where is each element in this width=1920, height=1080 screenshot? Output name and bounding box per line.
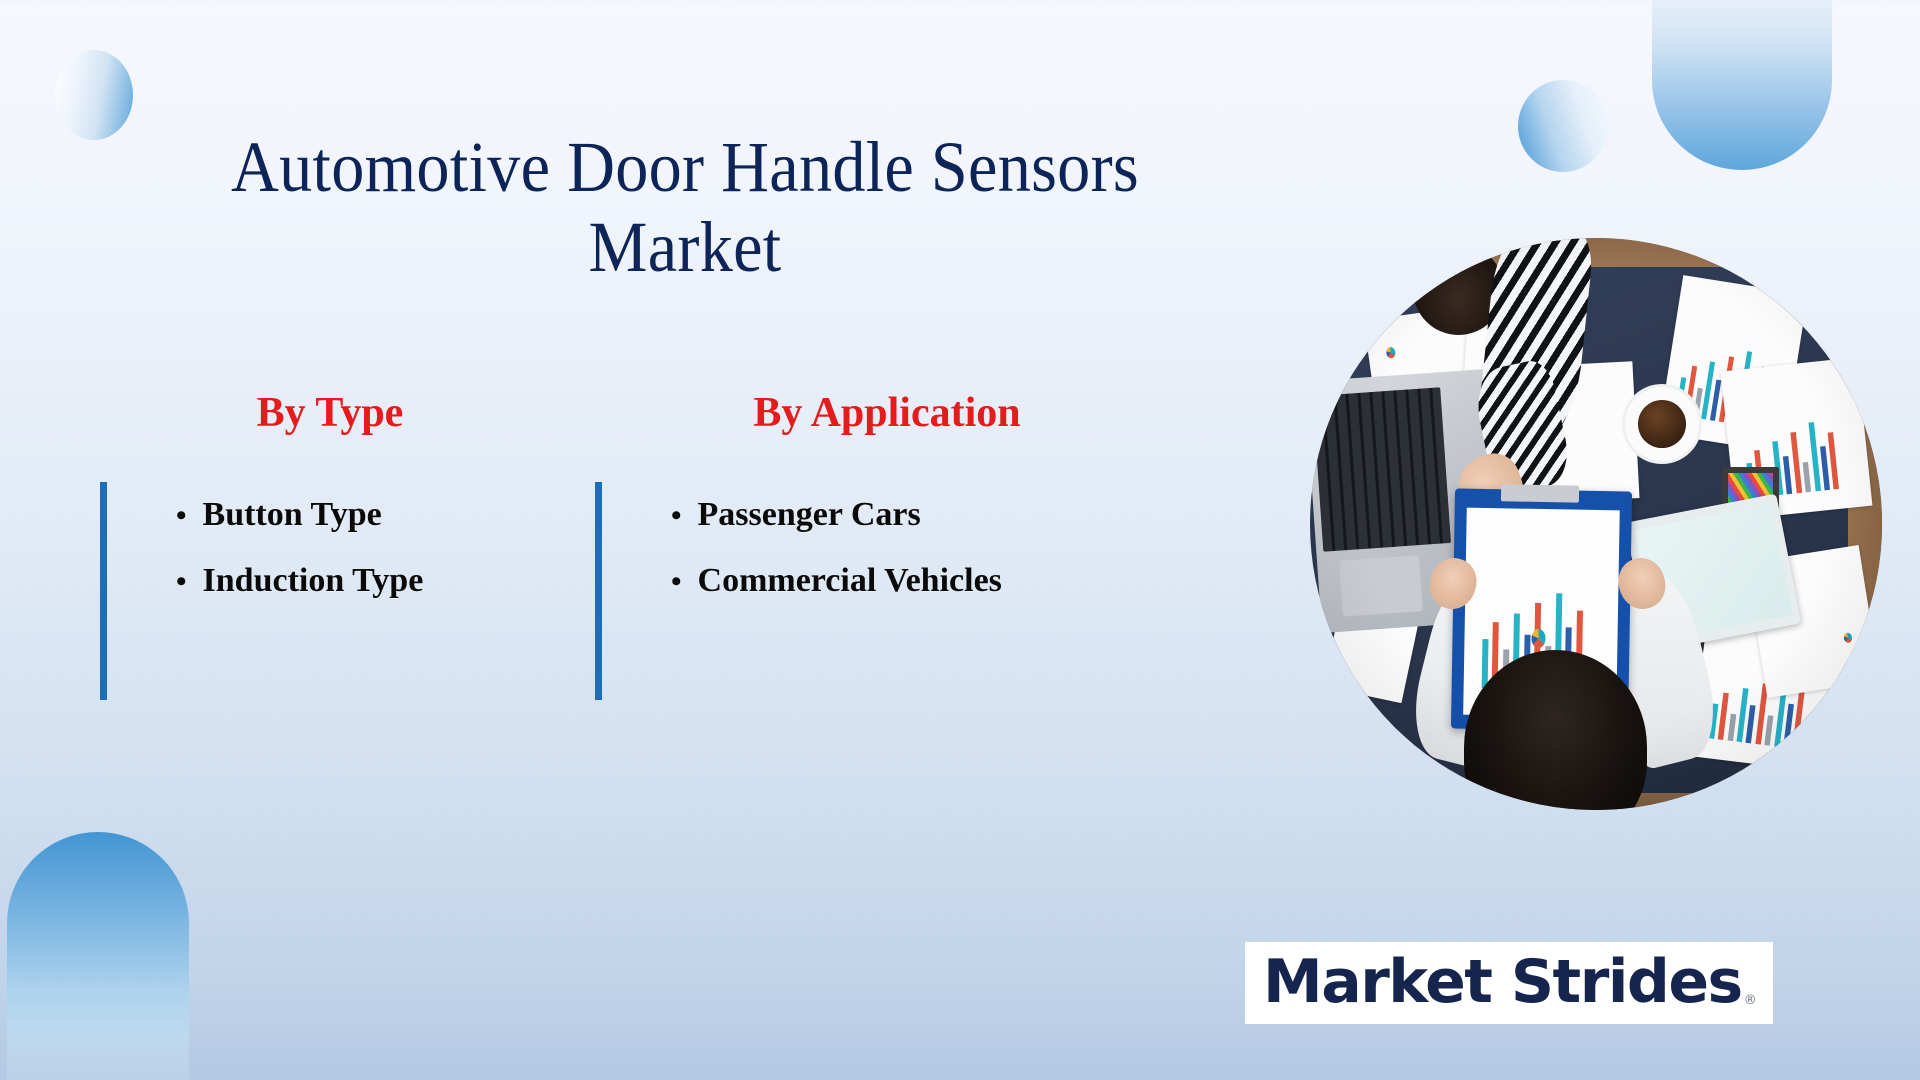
column-heading-by-type: By Type xyxy=(100,392,560,434)
page-title: Automotive Door Handle Sensors Market xyxy=(165,128,1205,288)
brand-logo: Market Strides ® xyxy=(1245,942,1773,1024)
list-item-label: Induction Type xyxy=(203,564,424,598)
bullet-dot-icon: • xyxy=(176,501,187,531)
decor-pill-top-right xyxy=(1652,0,1832,170)
decor-circle-top-left xyxy=(55,50,133,140)
photo-vignette xyxy=(1310,238,1882,810)
bullet-dot-icon: • xyxy=(671,501,682,531)
brand-wordmark: Market Strides xyxy=(1263,952,1742,1012)
accent-bar-by-type xyxy=(100,482,107,700)
bullet-list-by-application: • Passenger Cars • Commercial Vehicles xyxy=(639,482,1155,614)
accent-bar-by-application xyxy=(595,482,602,700)
list-item-label: Passenger Cars xyxy=(698,498,921,532)
decor-arch-bottom-left xyxy=(7,832,189,1080)
bullet-dot-icon: • xyxy=(176,567,187,597)
segment-column-by-type: By Type • Button Type • Induction Type xyxy=(100,392,600,614)
decor-circle-top-right xyxy=(1518,80,1608,172)
registered-trademark-icon: ® xyxy=(1744,993,1757,1008)
bullet-block-by-application: • Passenger Cars • Commercial Vehicles xyxy=(595,482,1155,614)
column-heading-by-application: By Application xyxy=(587,392,1187,434)
bullet-block-by-type: • Button Type • Induction Type xyxy=(100,482,600,614)
bullet-list-by-type: • Button Type • Induction Type xyxy=(144,482,600,614)
bullet-dot-icon: • xyxy=(671,567,682,597)
list-item: • Button Type xyxy=(144,482,600,548)
list-item-label: Commercial Vehicles xyxy=(698,564,1002,598)
list-item: • Induction Type xyxy=(144,548,600,614)
list-item-label: Button Type xyxy=(203,498,382,532)
list-item: • Passenger Cars xyxy=(639,482,1155,548)
hero-photo-business-meeting xyxy=(1310,238,1882,810)
list-item: • Commercial Vehicles xyxy=(639,548,1155,614)
segment-column-by-application: By Application • Passenger Cars • Commer… xyxy=(595,392,1155,614)
photo-pie-chart xyxy=(1803,730,1815,743)
